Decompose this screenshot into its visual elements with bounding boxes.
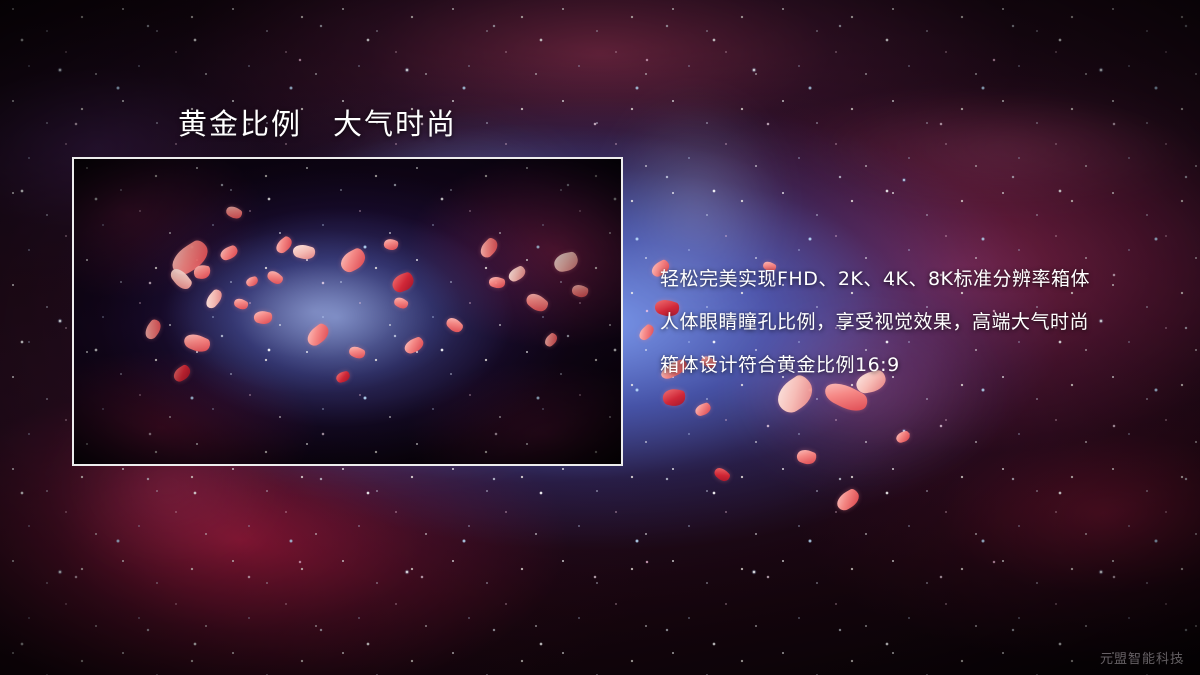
photo-vignette bbox=[74, 159, 621, 464]
body-line: 箱体设计符合黄金比例16:9 bbox=[660, 344, 1180, 387]
watermark: 元盟智能科技 bbox=[1100, 648, 1184, 667]
body-line: 人体眼睛瞳孔比例，享受视觉效果，高端大气时尚 bbox=[660, 301, 1180, 344]
framed-nebula-image bbox=[72, 157, 623, 466]
slide-title: 黄金比例 大气时尚 bbox=[178, 101, 457, 143]
body-line: 轻松完美实现FHD、2K、4K、8K标准分辨率箱体 bbox=[660, 258, 1180, 301]
slide-body-text: 轻松完美实现FHD、2K、4K、8K标准分辨率箱体 人体眼睛瞳孔比例，享受视觉效… bbox=[660, 258, 1180, 387]
presentation-slide: 黄金比例 大气时尚 轻松完美实现FHD、2K、4K、8K标准分辨率箱体 人体眼睛… bbox=[0, 0, 1200, 675]
